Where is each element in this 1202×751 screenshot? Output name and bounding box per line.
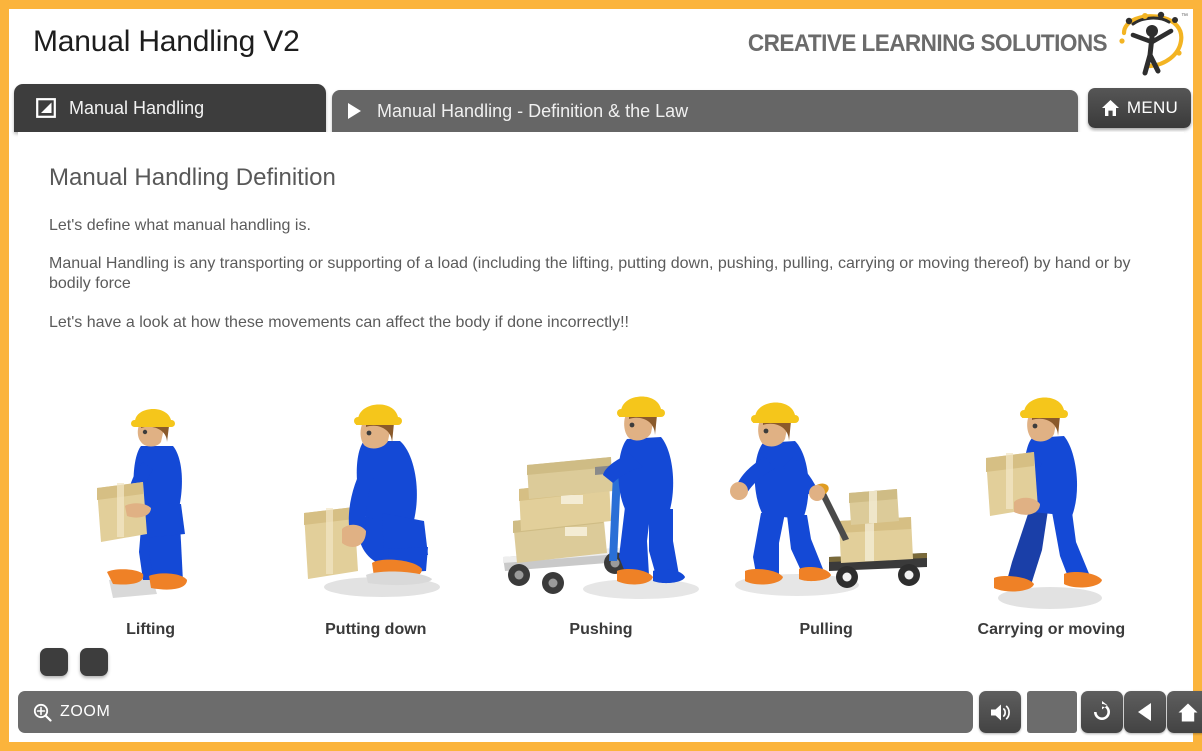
- app-frame: Manual Handling V2 CREATIVE LEARNING SOL…: [0, 0, 1202, 751]
- bottom-toolbar: ZOOM: [18, 691, 1184, 733]
- magnifier-plus-icon: [33, 703, 52, 722]
- figure-pushing: Pushing: [501, 381, 701, 640]
- slide-paragraph-3: Let's have a look at how these movements…: [49, 313, 629, 333]
- figure-pulling: Pulling: [726, 389, 926, 640]
- slide-paragraph-2: Manual Handling is any transporting or s…: [49, 254, 1144, 294]
- tab-definition-and-law-label: Manual Handling - Definition & the Law: [377, 101, 688, 122]
- menu-button-label: MENU: [1127, 98, 1178, 118]
- previous-button[interactable]: [1124, 691, 1166, 733]
- figure-lifting-caption: Lifting: [126, 620, 175, 640]
- figure-pulling-caption: Pulling: [799, 620, 852, 640]
- person-swoosh-logo-icon: [1109, 11, 1187, 77]
- replay-arrow-icon: [1090, 700, 1114, 724]
- illustration-row: Lifting: [38, 360, 1164, 640]
- figure-lifting: Lifting: [51, 384, 251, 640]
- mini-button-2[interactable]: [80, 648, 108, 676]
- collapse-arrow-square-icon: [36, 98, 56, 118]
- page-title: Manual Handling V2: [33, 25, 300, 59]
- home-icon: [1177, 702, 1199, 723]
- play-triangle-icon: [348, 103, 361, 119]
- figure-carrying-or-moving: Carrying or moving: [951, 386, 1151, 640]
- tab-manual-handling-label: Manual Handling: [69, 98, 204, 119]
- worker-lifting-box-icon: [81, 384, 221, 614]
- brand-name: CREATIVE LEARNING SOLUTIONS: [748, 30, 1107, 58]
- worker-pushing-trolley-icon: [491, 381, 711, 611]
- figure-putting-down-caption: Putting down: [325, 620, 426, 640]
- left-triangle-icon: [1135, 701, 1155, 723]
- figure-carrying-or-moving-caption: Carrying or moving: [978, 620, 1126, 640]
- blank-slot: [1027, 691, 1077, 733]
- zoom-button[interactable]: ZOOM: [18, 691, 973, 733]
- tab-bar: Manual Handling Manual Handling - Defini…: [9, 78, 1193, 132]
- mini-button-group: [40, 648, 108, 676]
- replay-button[interactable]: [1081, 691, 1123, 733]
- volume-button[interactable]: [979, 691, 1021, 733]
- worker-crouching-box-icon: [296, 389, 456, 614]
- zoom-button-label: ZOOM: [60, 703, 110, 721]
- worker-carrying-box-icon: [976, 386, 1126, 618]
- figure-putting-down: Putting down: [276, 389, 476, 640]
- slide-title: Manual Handling Definition: [49, 164, 336, 192]
- figure-pushing-caption: Pushing: [569, 620, 632, 640]
- tab-manual-handling[interactable]: Manual Handling: [14, 84, 326, 132]
- speaker-volume-icon: [989, 702, 1012, 723]
- home-button[interactable]: [1167, 691, 1202, 733]
- slide-paragraph-1: Let's define what manual handling is.: [49, 216, 311, 236]
- worker-pulling-cart-icon: [719, 389, 934, 614]
- tab-definition-and-law[interactable]: Manual Handling - Definition & the Law: [332, 90, 1078, 132]
- header: Manual Handling V2 CREATIVE LEARNING SOL…: [9, 9, 1193, 81]
- slide-content: Manual Handling Definition Let's define …: [18, 132, 1184, 682]
- mini-button-1[interactable]: [40, 648, 68, 676]
- menu-button[interactable]: MENU: [1088, 88, 1191, 128]
- home-icon: [1101, 99, 1120, 117]
